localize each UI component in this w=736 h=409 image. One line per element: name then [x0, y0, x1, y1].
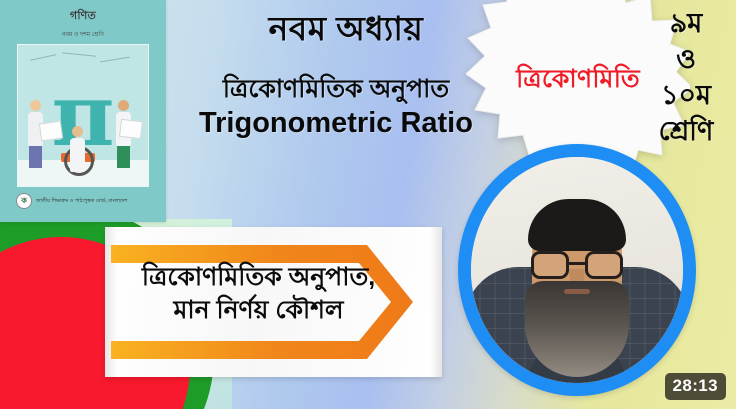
- banner-line-2: মান নির্ণয় কৌশল: [173, 296, 343, 324]
- textbook-board-name: জাতীয় শিক্ষাক্রম ও পাঠ্যপুস্তক বোর্ড, ব…: [36, 198, 127, 204]
- cover-paper: [39, 121, 63, 142]
- figure-head: [30, 100, 41, 111]
- glasses-icon: [531, 251, 623, 279]
- nctb-seal-icon: ক: [16, 193, 32, 209]
- glasses-lens-right: [585, 251, 623, 279]
- title-block: ত্রিকোণমিতিক অনুপাত Trigonometric Ratio: [160, 75, 512, 141]
- title-bengali: ত্রিকোণমিতিক অনুপাত: [160, 75, 512, 104]
- class-line-2: ও: [676, 42, 696, 78]
- video-duration-badge: 28:13: [665, 373, 726, 400]
- figure-head: [118, 100, 129, 111]
- textbook-grade: নবম ও দশম শ্রেণি: [62, 29, 104, 40]
- chapter-heading: নবম অধ্যায়: [196, 3, 496, 59]
- banner-text: ত্রিকোণমিতিক অনুপাত, মান নির্ণয় কৌশল: [113, 261, 404, 326]
- glasses-lens-left: [531, 251, 569, 279]
- cover-scribble: [100, 57, 130, 63]
- presenter-photo: [471, 157, 683, 383]
- textbook-cover-illustration: π: [17, 44, 149, 187]
- figure-body: [70, 138, 85, 172]
- class-line-3: ১০ম: [661, 78, 711, 114]
- portrait-mouth: [564, 289, 590, 294]
- cover-figure-wheelchair: [70, 126, 85, 172]
- cover-scribble: [30, 54, 56, 60]
- class-line-1: ৯ম: [670, 6, 703, 42]
- banner-line-1: ত্রিকোণমিতিক অনুপাত,: [142, 263, 375, 291]
- textbook-footer: ক জাতীয় শিক্ষাক্রম ও পাঠ্যপুস্তক বোর্ড,…: [8, 193, 158, 209]
- title-english: Trigonometric Ratio: [160, 106, 512, 141]
- class-column: ৯ম ও ১০ম শ্রেণি: [640, 0, 732, 150]
- glasses-bridge: [569, 262, 585, 265]
- starburst-label: ত্রিকোণমিতি: [516, 59, 640, 102]
- presenter-portrait-ring: [458, 144, 696, 396]
- cover-paper: [119, 119, 143, 140]
- subtitle-banner: ত্রিকোণমিতিক অনুপাত, মান নির্ণয় কৌশল: [105, 227, 442, 377]
- figure-head: [72, 126, 83, 137]
- textbook-subject: গণিত: [70, 7, 96, 26]
- class-line-4: শ্রেণি: [659, 114, 714, 150]
- cover-scribble: [62, 52, 96, 57]
- figure-legs: [117, 146, 130, 168]
- textbook-cover: গণিত নবম ও দশম শ্রেণি π: [0, 0, 166, 222]
- video-thumbnail: গণিত নবম ও দশম শ্রেণি π: [0, 0, 736, 409]
- figure-legs: [29, 146, 42, 168]
